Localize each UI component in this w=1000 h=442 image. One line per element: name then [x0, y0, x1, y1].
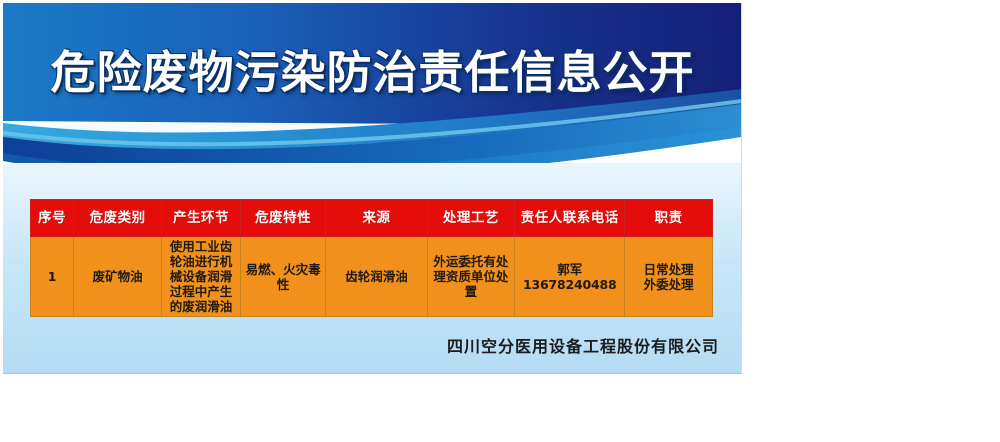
cell-seq: 1 [31, 237, 74, 317]
cell-source: 齿轮润滑油 [326, 237, 427, 317]
column-header-category: 危废类别 [74, 200, 162, 237]
cell-properties: 易燃、火灾毒性 [240, 237, 326, 317]
cell-generation-link: 使用工业齿轮油进行机械设备润滑过程中产生的废润滑油 [162, 237, 241, 317]
column-header-generation: 产生环节 [162, 200, 241, 237]
poster-banner: 危险废物污染防治责任信息公开 [3, 3, 742, 163]
column-header-source: 来源 [326, 200, 427, 237]
cell-process: 外运委托有处理资质单位处置 [427, 237, 515, 317]
cell-contact: 郭军 13678240488 [515, 237, 625, 317]
table-header-row: 序号 危废类别 产生环节 危废特性 来源 处理工艺 责任人联系电话 职责 [31, 200, 713, 237]
information-disclosure-poster: 危险废物污染防治责任信息公开 序号 危废类别 产生环节 危废特性 来源 处理工艺… [3, 3, 742, 374]
hazardous-waste-table: 序号 危废类别 产生环节 危废特性 来源 处理工艺 责任人联系电话 职责 1 废… [30, 199, 713, 317]
contact-person-name: 郭军 [517, 262, 622, 277]
cell-category: 废矿物油 [74, 237, 162, 317]
page-title: 危险废物污染防治责任信息公开 [3, 47, 742, 99]
duty-line-1: 日常处理 [627, 262, 710, 277]
table-row: 1 废矿物油 使用工业齿轮油进行机械设备润滑过程中产生的废润滑油 易燃、火灾毒性… [31, 237, 713, 317]
contact-phone-number: 13678240488 [517, 277, 622, 292]
column-header-contact: 责任人联系电话 [515, 200, 625, 237]
column-header-process: 处理工艺 [427, 200, 515, 237]
company-name: 四川空分医用设备工程股份有限公司 [3, 333, 719, 357]
column-header-seq: 序号 [31, 200, 74, 237]
duty-line-2: 外委处理 [627, 277, 710, 292]
column-header-duty: 职责 [625, 200, 713, 237]
column-header-properties: 危废特性 [240, 200, 326, 237]
cell-duty: 日常处理 外委处理 [625, 237, 713, 317]
